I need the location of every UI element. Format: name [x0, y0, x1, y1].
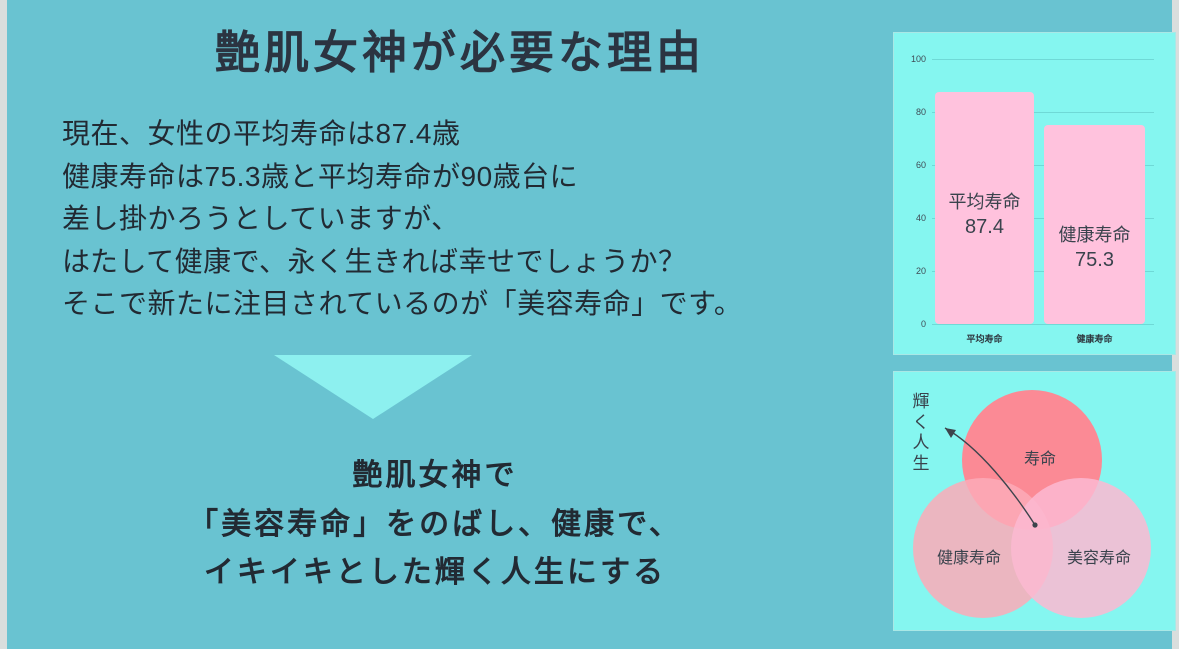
bar-chart-plot: 100 80 60 40 20 0 平均寿命 87.4 平均寿命 [932, 59, 1154, 324]
venn-label-beauty-lifespan: 美容寿命 [1067, 544, 1131, 568]
venn-stage: 寿命 健康寿命 美容寿命 輝 く 人 生 [894, 372, 1177, 632]
y-tick-0: 0 [921, 319, 926, 329]
page-title: 艶肌女神が必要な理由 [60, 28, 860, 78]
conclusion-line-2: 「美容寿命」をのばし、健康で、 [40, 501, 830, 550]
venn-label-lifespan: 寿命 [1024, 445, 1056, 469]
conclusion-line-3: イキイキとした輝く人生にする [40, 549, 830, 598]
venn-callout-char-3: 人 [910, 433, 932, 454]
triangle-down-icon [274, 355, 472, 419]
bar-label-healthy-lifespan: 健康寿命 [1044, 221, 1145, 247]
body-line-1: 現在、女性の平均寿命は87.4歳 [62, 113, 852, 156]
venn-label-healthy-lifespan: 健康寿命 [937, 544, 1001, 568]
bar-healthy-lifespan[interactable]: 健康寿命 75.3 健康寿命 [1044, 125, 1145, 325]
bar-label-average-lifespan: 平均寿命 [935, 188, 1034, 214]
body-line-4: はたして健康で、永く生きれば幸せでしょうか？ [62, 241, 852, 284]
body-line-3: 差し掛かろうとしていますが、 [62, 198, 852, 241]
y-tick-20: 20 [916, 266, 926, 276]
body-paragraph: 現在、女性の平均寿命は87.4歳 健康寿命は75.3歳と平均寿命が90歳台に 差… [62, 113, 852, 326]
y-tick-100: 100 [911, 54, 926, 64]
venn-callout-char-1: 輝 [910, 392, 932, 413]
venn-callout-char-4: 生 [910, 454, 932, 475]
body-line-5: そこで新たに注目されているのが「美容寿命」です。 [62, 283, 852, 326]
body-line-2: 健康寿命は75.3歳と平均寿命が90歳台に [62, 156, 852, 199]
y-tick-80: 80 [916, 107, 926, 117]
conclusion-text: 艶肌女神で 「美容寿命」をのばし、健康で、 イキイキとした輝く人生にする [40, 452, 830, 598]
venn-callout-char-2: く [910, 413, 932, 434]
bar-value-average-lifespan: 87.4 [935, 216, 1034, 239]
y-tick-40: 40 [916, 213, 926, 223]
venn-callout-label: 輝 く 人 生 [910, 392, 932, 475]
x-tick-average-lifespan: 平均寿命 [935, 332, 1034, 345]
conclusion-line-1: 艶肌女神で [40, 452, 830, 501]
slide-canvas: 艶肌女神が必要な理由 現在、女性の平均寿命は87.4歳 健康寿命は75.3歳と平… [0, 0, 1179, 649]
gridline-0: 0 [932, 324, 1154, 325]
bar-value-healthy-lifespan: 75.3 [1044, 249, 1145, 272]
left-edge-strip [0, 0, 7, 649]
bar-average-lifespan[interactable]: 平均寿命 87.4 平均寿命 [935, 92, 1034, 324]
gridline-100: 100 [932, 59, 1154, 60]
venn-diagram-panel: 寿命 健康寿命 美容寿命 輝 く 人 生 [893, 371, 1176, 631]
x-tick-healthy-lifespan: 健康寿命 [1044, 332, 1145, 345]
bar-chart-panel: 100 80 60 40 20 0 平均寿命 87.4 平均寿命 [893, 32, 1176, 355]
y-tick-60: 60 [916, 160, 926, 170]
